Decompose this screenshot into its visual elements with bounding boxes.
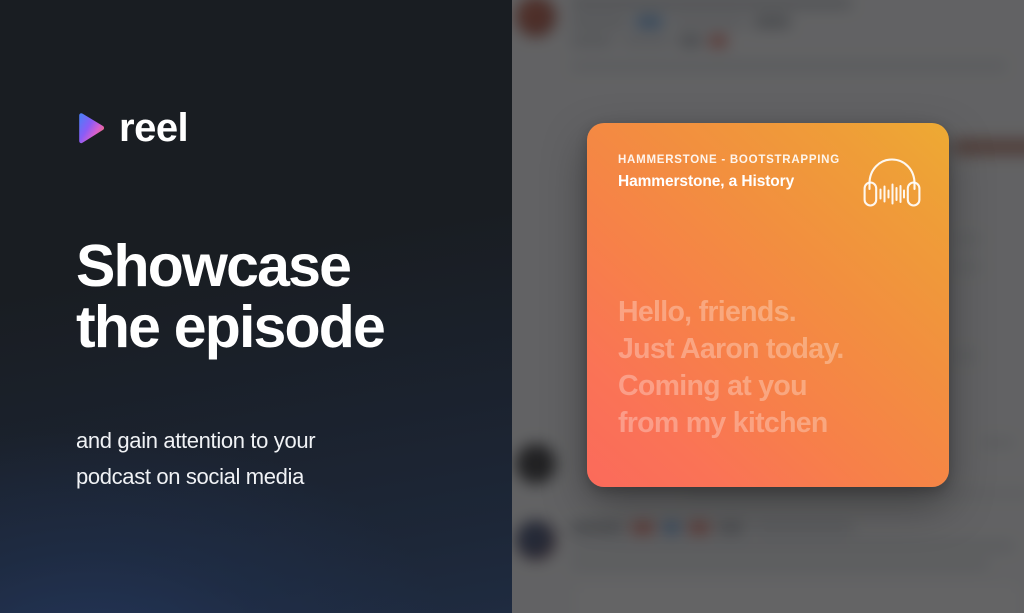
headphones-waveform-icon [861, 154, 923, 212]
podcast-episode-title: Hammerstone, a History [618, 173, 840, 191]
marketing-content: reel Showcase the episode and gain atten… [76, 0, 496, 613]
marketing-panel: reel Showcase the episode and gain atten… [0, 0, 512, 613]
brand-logo[interactable]: reel [76, 108, 188, 148]
audiogram-header: HAMMERSTONE - BOOTSTRAPPING Hammerstone,… [618, 152, 923, 212]
page-subtitle: and gain attention to your podcast on so… [76, 423, 436, 494]
slide-canvas: reel Showcase the episode and gain atten… [0, 0, 1024, 613]
page-title: Showcase the episode [76, 236, 384, 359]
audiogram-caption: Hello, friends. Just Aaron today. Coming… [618, 294, 935, 442]
play-triangle-gradient-icon [76, 113, 105, 144]
podcast-show-name: HAMMERSTONE - BOOTSTRAPPING [618, 154, 840, 166]
audiogram-card[interactable]: HAMMERSTONE - BOOTSTRAPPING Hammerstone,… [587, 123, 949, 487]
audiogram-titles: HAMMERSTONE - BOOTSTRAPPING Hammerstone,… [618, 152, 840, 191]
brand-name: reel [119, 108, 188, 148]
